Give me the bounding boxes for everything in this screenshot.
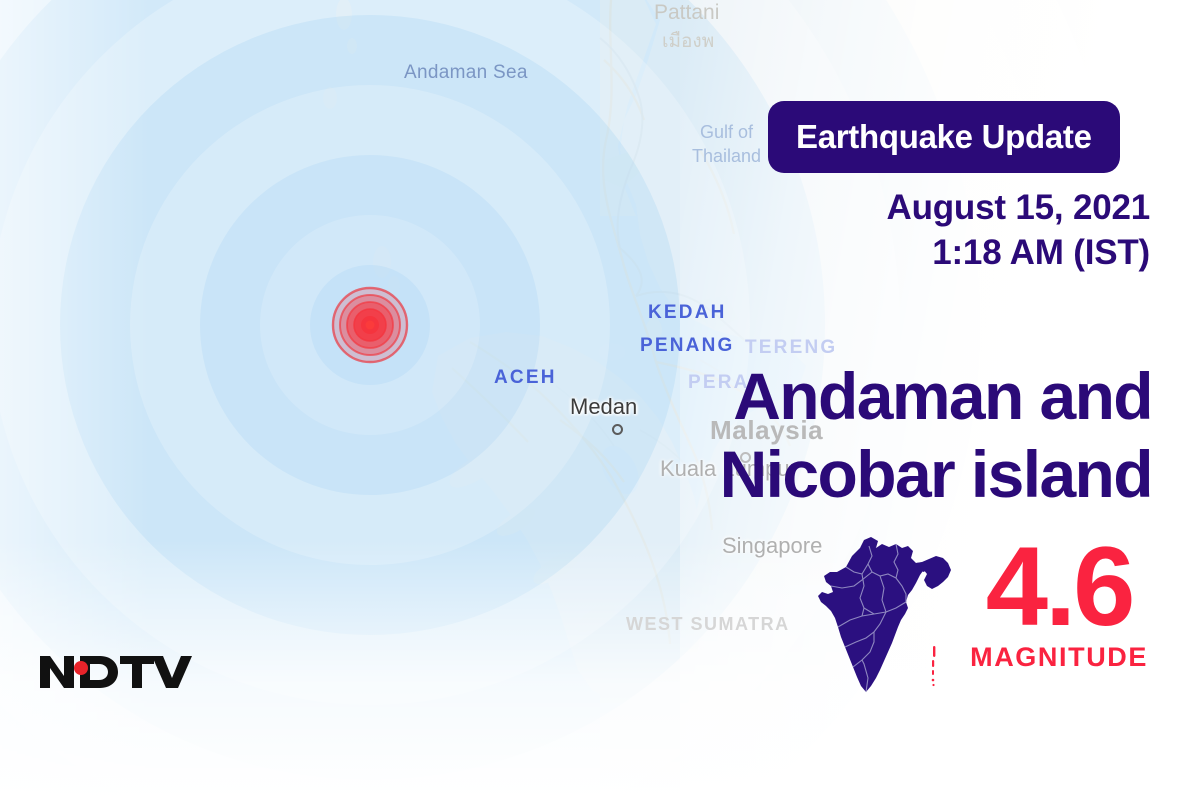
- headline-line-2: Nicobar island: [452, 436, 1152, 514]
- magnitude-value: 4.6: [970, 535, 1148, 638]
- badge-label: Earthquake Update: [796, 118, 1092, 156]
- magnitude-label: MAGNITUDE: [970, 642, 1148, 673]
- ndtv-logo-icon: [38, 652, 198, 692]
- datetime-block: August 15, 2021 1:18 AM (IST): [887, 186, 1151, 276]
- event-date: August 15, 2021: [887, 186, 1151, 231]
- earthquake-update-graphic: Andaman Sea Pattani เมืองพ Gulf of Thail…: [0, 0, 1200, 800]
- ndtv-logo-dot: [74, 661, 88, 675]
- magnitude-block: 4.6 MAGNITUDE: [970, 535, 1148, 673]
- headline-line-1: Andaman and: [452, 358, 1152, 436]
- india-map-inset: [812, 534, 962, 699]
- ndtv-logo: [38, 652, 198, 692]
- earthquake-update-badge: Earthquake Update: [768, 101, 1120, 173]
- location-headline: Andaman and Nicobar island: [452, 358, 1152, 514]
- event-time: 1:18 AM (IST): [887, 231, 1151, 276]
- india-outline-icon: [812, 534, 962, 699]
- epicenter-rings-icon: [325, 280, 415, 370]
